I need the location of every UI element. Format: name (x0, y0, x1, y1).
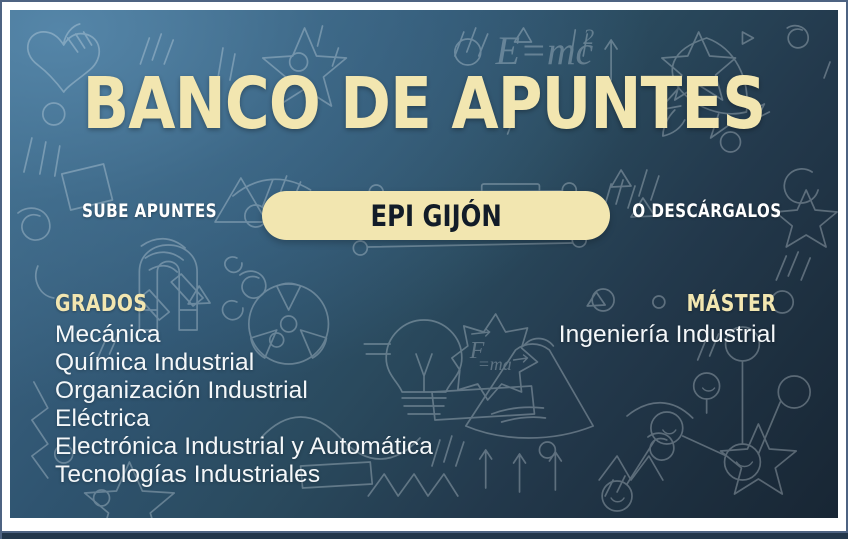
epi-gijon-badge-label: EPI GIJÓN (370, 199, 501, 233)
bottom-rule (2, 531, 848, 539)
page-title: BANCO DE APUNTES (68, 68, 780, 139)
list-item: Tecnologías Industriales (55, 461, 433, 489)
poster-content: BANCO DE APUNTES SUBE APUNTES EPI GIJÓN … (10, 10, 838, 518)
grados-column: GRADOS Mecánica Química Industrial Organ… (55, 291, 433, 489)
list-item: Organización Industrial (55, 377, 433, 405)
grados-list: Mecánica Química Industrial Organización… (55, 321, 433, 489)
list-item: Química Industrial (55, 349, 433, 377)
tagline-upload: SUBE APUNTES (82, 200, 217, 222)
master-column: MÁSTER Ingeniería Industrial (559, 291, 776, 349)
master-heading: MÁSTER (598, 291, 776, 317)
epi-gijon-badge[interactable]: EPI GIJÓN (262, 191, 610, 240)
list-item: Mecánica (55, 321, 433, 349)
grados-heading: GRADOS (55, 291, 365, 317)
list-item: Electrónica Industrial y Automática (55, 433, 433, 461)
list-item: Ingeniería Industrial (559, 321, 776, 349)
list-item: Eléctrica (55, 405, 433, 433)
tagline-row: SUBE APUNTES EPI GIJÓN O DESCÁRGALOS (10, 194, 838, 244)
tagline-download: O DESCÁRGALOS (633, 200, 782, 222)
master-list: Ingeniería Industrial (559, 321, 776, 349)
chalkboard-canvas: E=mc 2 (10, 10, 838, 518)
poster-frame: E=mc 2 (0, 0, 848, 539)
